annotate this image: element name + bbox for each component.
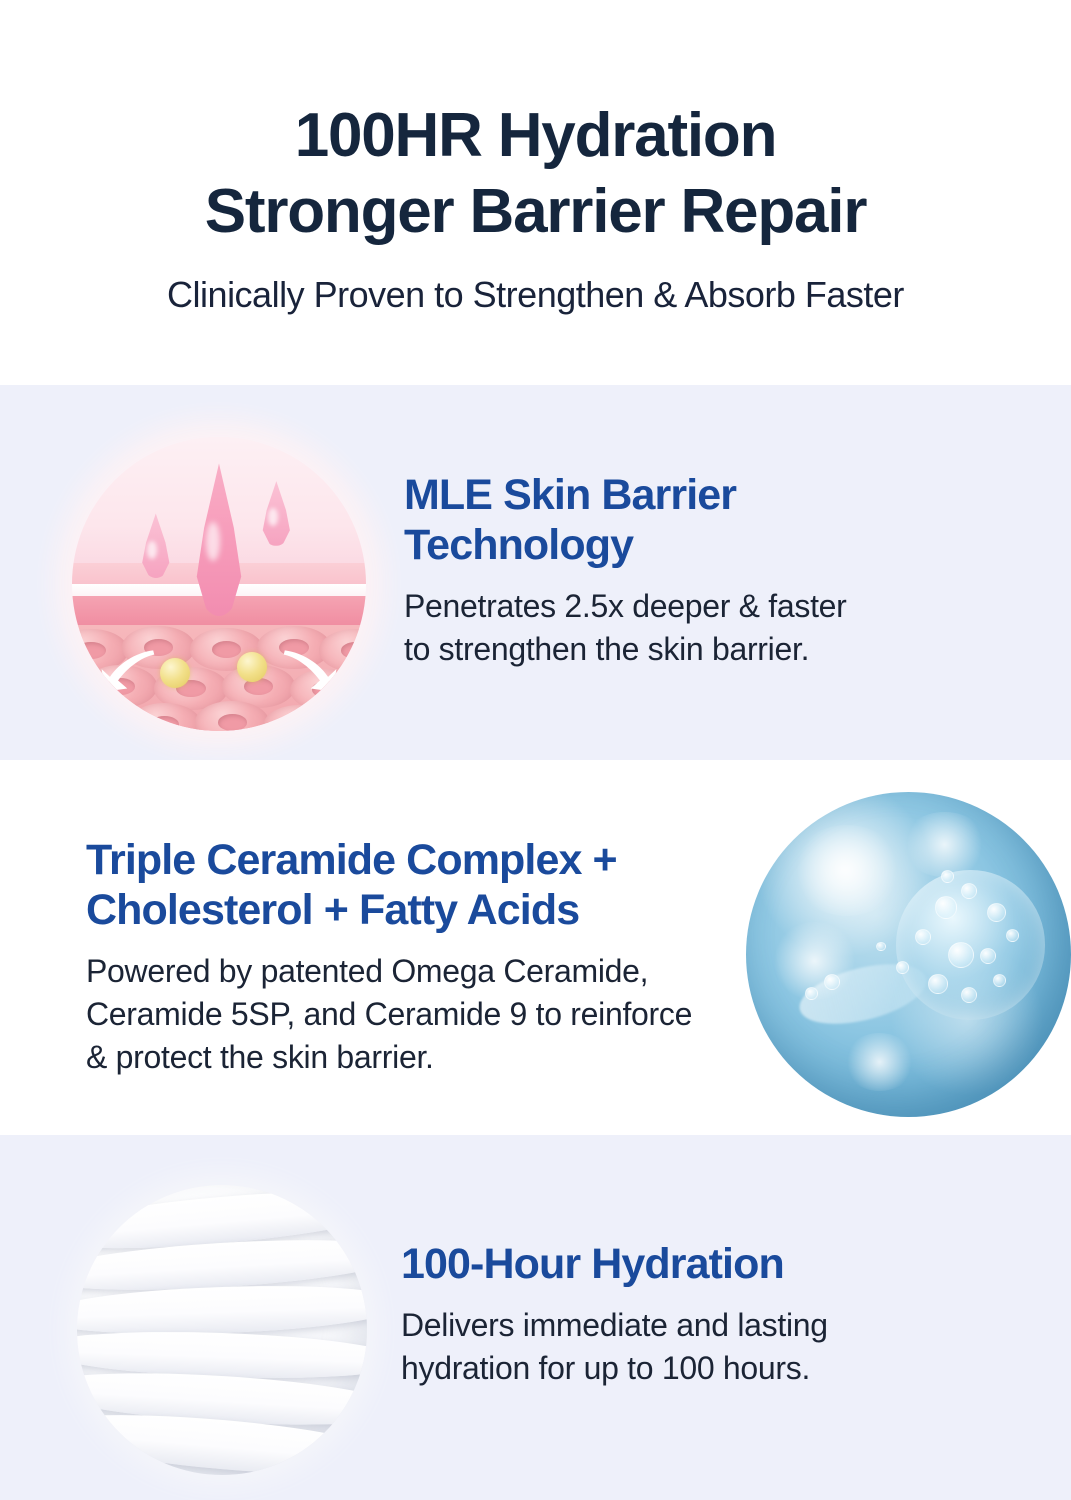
feature-text-hydration: 100-Hour Hydration Delivers immediate an… [401,1240,1001,1390]
feature-body-ceramide-line-1: Powered by patented Omega Ceramide, [86,950,846,993]
feature-title-ceramide: Triple Ceramide Complex + Cholesterol + … [86,836,846,936]
page-title: 100HR Hydration Stronger Barrier Repair [205,98,867,249]
skin-cross-section-illustration [72,437,366,731]
title-line-2: Stronger Barrier Repair [205,174,867,250]
ceramide-capsule-left [160,658,190,688]
feature-title-hydration-line-1: 100-Hour Hydration [401,1240,1001,1290]
header-section: 100HR Hydration Stronger Barrier Repair … [0,0,1071,385]
sphere-highlight-upper [902,812,987,877]
absorption-arrow-right [272,634,346,708]
feature-title-mle-line-1: MLE Skin Barrier [404,471,1004,521]
feature-body-mle-line-1: Penetrates 2.5x deeper & faster [404,585,1004,628]
feature-title-ceramide-line-1: Triple Ceramide Complex + [86,836,846,886]
sphere-highlight-bottom [844,1033,916,1092]
feature-text-ceramide: Triple Ceramide Complex + Cholesterol + … [86,836,846,1078]
feature-body-mle: Penetrates 2.5x deeper & faster to stren… [404,585,1004,671]
cream-texture-swatch [77,1185,367,1475]
feature-title-hydration: 100-Hour Hydration [401,1240,1001,1290]
feature-body-hydration-line-2: hydration for up to 100 hours. [401,1347,1001,1390]
feature-title-mle-line-2: Technology [404,521,1004,571]
feature-body-ceramide-line-2: Ceramide 5SP, and Ceramide 9 to reinforc… [86,993,846,1036]
feature-text-mle: MLE Skin Barrier Technology Penetrates 2… [404,471,1004,671]
absorption-arrow-left [93,634,167,708]
feature-body-hydration: Delivers immediate and lasting hydration… [401,1304,1001,1390]
ceramide-capsule-right [237,652,267,682]
page-subtitle: Clinically Proven to Strengthen & Absorb… [167,272,904,317]
feature-title-ceramide-line-2: Cholesterol + Fatty Acids [86,886,846,936]
feature-title-mle: MLE Skin Barrier Technology [404,471,1004,571]
feature-body-ceramide-line-3: & protect the skin barrier. [86,1036,846,1079]
feature-body-mle-line-2: to strengthen the skin barrier. [404,628,1004,671]
feature-body-hydration-line-1: Delivers immediate and lasting [401,1304,1001,1347]
title-line-1: 100HR Hydration [205,98,867,174]
feature-body-ceramide: Powered by patented Omega Ceramide, Cera… [86,950,846,1079]
infographic-page: 100HR Hydration Stronger Barrier Repair … [0,0,1071,1500]
